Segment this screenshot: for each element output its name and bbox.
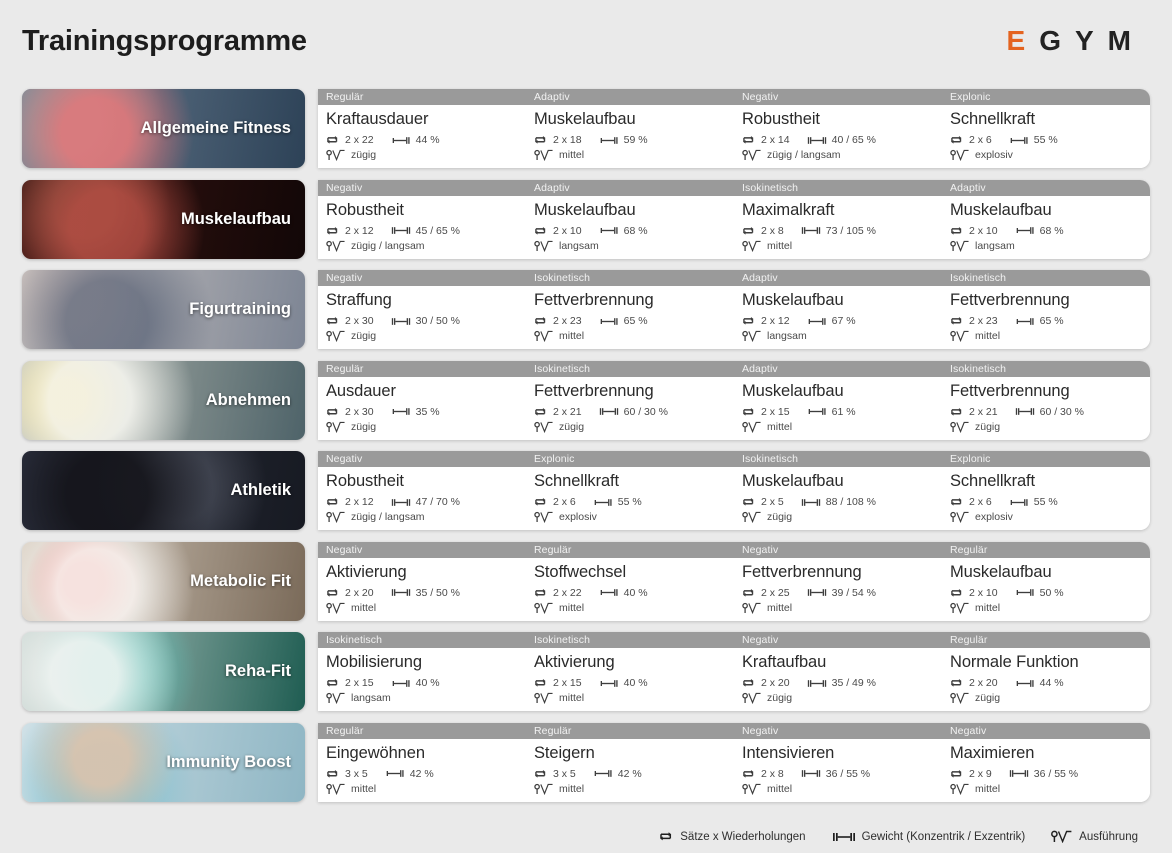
tempo-line: zügig <box>950 420 1150 434</box>
program-cell[interactable]: Muskelaufbau2 x 1267 %langsam <box>734 286 942 349</box>
metrics-line: 2 x 2240 % <box>534 586 734 600</box>
tempo-line: zügig <box>742 691 942 705</box>
repeat-icon <box>326 315 340 327</box>
repeat-icon <box>742 134 756 146</box>
sets-value: 2 x 21 <box>969 406 998 418</box>
repeat-icon <box>534 768 548 780</box>
weight-icon <box>599 316 619 327</box>
tempo-line: zügig <box>534 420 734 434</box>
program-cell[interactable]: Straffung2 x 3030 / 50 %zügig <box>318 286 526 349</box>
program-cell[interactable]: Robustheit2 x 1247 / 70 %zügig / langsam <box>318 467 526 530</box>
card-body: Eingewöhnen3 x 542 %mittelSteigern3 x 54… <box>318 739 1150 802</box>
tempo-icon <box>326 149 346 161</box>
program-cell[interactable]: Robustheit2 x 1440 / 65 %zügig / langsam <box>734 105 942 168</box>
weight-value: 35 / 49 % <box>832 677 876 689</box>
mode-label: Regulär <box>318 723 526 739</box>
card-mode-header: NegativExplonicIsokinetischExplonic <box>318 451 1150 467</box>
metrics-line: 2 x 1540 % <box>534 676 734 690</box>
weight-value: 39 / 54 % <box>832 587 876 599</box>
program-cell[interactable]: Muskelaufbau2 x 1561 %mittel <box>734 377 942 440</box>
repeat-icon <box>950 677 964 689</box>
metrics-line: 2 x 873 / 105 % <box>742 224 942 238</box>
mode-label: Negativ <box>942 723 1150 739</box>
sets-value: 2 x 22 <box>345 134 374 146</box>
program-cell[interactable]: Fettverbrennung2 x 2160 / 30 %zügig <box>942 377 1150 440</box>
repeat-icon <box>326 134 340 146</box>
repeat-icon <box>950 406 964 418</box>
legend-label-tempo: Ausführung <box>1079 831 1138 843</box>
sets-value: 2 x 8 <box>761 225 784 237</box>
tempo-value: explosiv <box>559 511 597 523</box>
program-name: Ausdauer <box>326 381 526 402</box>
weight-value: 68 % <box>1040 225 1064 237</box>
egym-logo: E G Y M <box>1007 25 1132 57</box>
tempo-value: mittel <box>767 421 792 433</box>
sets-value: 2 x 15 <box>345 677 374 689</box>
legend-item-weight: Gewicht (Konzentrik / Exzentrik) <box>832 831 1026 843</box>
tempo-icon <box>326 421 346 433</box>
program-cell[interactable]: Fettverbrennung2 x 2160 / 30 %zügig <box>526 377 734 440</box>
weight-value: 55 % <box>1034 134 1058 146</box>
metrics-line: 2 x 2035 / 49 % <box>742 676 942 690</box>
program-cell[interactable]: Fettverbrennung2 x 2365 %mittel <box>526 286 734 349</box>
category-tile-reha-fit[interactable]: Reha-Fit <box>22 632 305 711</box>
weight-icon <box>593 497 613 508</box>
mode-label: Regulär <box>318 89 526 105</box>
repeat-icon <box>326 677 340 689</box>
tempo-line: zügig <box>950 691 1150 705</box>
repeat-icon <box>326 225 340 237</box>
program-name: Muskelaufbau <box>950 200 1150 221</box>
tempo-value: langsam <box>351 692 391 704</box>
tempo-value: langsam <box>975 240 1015 252</box>
sets-value: 2 x 12 <box>345 225 374 237</box>
card-mode-header: NegativAdaptivIsokinetischAdaptiv <box>318 180 1150 196</box>
category-label: Athletik <box>230 481 305 500</box>
program-cell[interactable]: Muskelaufbau2 x 1050 %mittel <box>942 558 1150 621</box>
program-cell[interactable]: Kraftaufbau2 x 2035 / 49 %zügig <box>734 648 942 711</box>
weight-icon <box>1015 587 1035 598</box>
card-mode-header: RegulärIsokinetischAdaptivIsokinetisch <box>318 361 1150 377</box>
weight-icon <box>1009 497 1029 508</box>
program-cell[interactable]: Robustheit2 x 1245 / 65 %zügig / langsam <box>318 196 526 259</box>
program-name: Stoffwechsel <box>534 562 734 583</box>
program-cell[interactable]: Normale Funktion2 x 2044 %zügig <box>942 648 1150 711</box>
metrics-line: 2 x 3030 / 50 % <box>326 314 526 328</box>
mode-label: Adaptiv <box>526 180 734 196</box>
tempo-icon <box>742 330 762 342</box>
metrics-line: 2 x 1859 % <box>534 133 734 147</box>
weight-value: 40 % <box>624 587 648 599</box>
category-label: Muskelaufbau <box>181 210 305 229</box>
weight-icon <box>807 316 827 327</box>
program-card: NegativAdaptivIsokinetischAdaptivRobusth… <box>318 180 1150 259</box>
program-name: Straffung <box>326 290 526 311</box>
weight-icon <box>832 831 856 843</box>
repeat-icon <box>534 677 548 689</box>
program-cell[interactable]: Stoffwechsel2 x 2240 %mittel <box>526 558 734 621</box>
tempo-icon <box>326 330 346 342</box>
category-tile-allgemeine-fitness[interactable]: Allgemeine Fitness <box>22 89 305 168</box>
program-name: Aktivierung <box>326 562 526 583</box>
program-row: MuskelaufbauNegativAdaptivIsokinetischAd… <box>0 179 1172 270</box>
mode-label: Negativ <box>318 270 526 286</box>
category-label: Figurtraining <box>189 300 305 319</box>
tempo-value: zügig <box>975 421 1000 433</box>
tempo-icon <box>534 149 554 161</box>
repeat-icon <box>742 587 756 599</box>
program-row: AthletikNegativExplonicIsokinetischExplo… <box>0 450 1172 541</box>
weight-icon <box>1015 678 1035 689</box>
weight-icon <box>391 135 411 146</box>
mode-label: Negativ <box>734 632 942 648</box>
card-body: Robustheit2 x 1245 / 65 %zügig / langsam… <box>318 196 1150 259</box>
legend: Sätze x Wiederholungen Gewicht (Konzentr… <box>659 830 1138 843</box>
tempo-line: langsam <box>950 239 1150 253</box>
tempo-value: zügig <box>767 511 792 523</box>
category-tile-muskelaufbau[interactable]: Muskelaufbau <box>22 180 305 259</box>
program-name: Schnellkraft <box>950 109 1150 130</box>
tempo-value: mittel <box>767 240 792 252</box>
tempo-line: mittel <box>326 782 526 796</box>
program-cell[interactable]: Kraftausdauer2 x 2244 %zügig <box>318 105 526 168</box>
program-row: FigurtrainingNegativIsokinetischAdaptivI… <box>0 269 1172 360</box>
repeat-icon <box>659 830 674 843</box>
weight-value: 35 / 50 % <box>416 587 460 599</box>
program-name: Fettverbrennung <box>950 381 1150 402</box>
metrics-line: 2 x 1440 / 65 % <box>742 133 942 147</box>
tempo-value: mittel <box>975 330 1000 342</box>
tempo-line: zügig <box>326 329 526 343</box>
weight-value: 36 / 55 % <box>826 768 870 780</box>
weight-value: 36 / 55 % <box>1034 768 1078 780</box>
repeat-icon <box>950 587 964 599</box>
tempo-value: langsam <box>767 330 807 342</box>
tempo-line: langsam <box>326 691 526 705</box>
program-name: Fettverbrennung <box>742 562 942 583</box>
repeat-icon <box>742 315 756 327</box>
sets-value: 2 x 5 <box>761 496 784 508</box>
program-name: Mobilisierung <box>326 652 526 673</box>
mode-label: Regulär <box>318 361 526 377</box>
program-name: Maximalkraft <box>742 200 942 221</box>
program-cell[interactable]: Muskelaufbau2 x 1068 %langsam <box>942 196 1150 259</box>
legend-label-sets: Sätze x Wiederholungen <box>680 831 805 843</box>
category-label: Abnehmen <box>206 391 305 410</box>
sets-value: 2 x 21 <box>553 406 582 418</box>
tempo-line: mittel <box>950 601 1150 615</box>
program-cell[interactable]: Aktivierung2 x 2035 / 50 %mittel <box>318 558 526 621</box>
sets-value: 2 x 15 <box>761 406 790 418</box>
weight-value: 65 % <box>1040 315 1064 327</box>
program-card: RegulärRegulärNegativNegativEingewöhnen3… <box>318 723 1150 802</box>
tempo-icon <box>1051 830 1073 843</box>
card-mode-header: NegativIsokinetischAdaptivIsokinetisch <box>318 270 1150 286</box>
program-cell[interactable]: Ausdauer2 x 3035 %zügig <box>318 377 526 440</box>
tempo-line: mittel <box>742 601 942 615</box>
weight-value: 40 % <box>416 677 440 689</box>
tempo-icon <box>950 511 970 523</box>
weight-icon <box>807 135 827 146</box>
program-cell[interactable]: Eingewöhnen3 x 542 %mittel <box>318 739 526 802</box>
repeat-icon <box>534 134 548 146</box>
program-cell[interactable]: Schnellkraft2 x 655 %explosiv <box>942 105 1150 168</box>
tempo-icon <box>742 692 762 704</box>
tempo-icon <box>950 330 970 342</box>
program-name: Normale Funktion <box>950 652 1150 673</box>
tempo-line: mittel <box>950 782 1150 796</box>
program-name: Aktivierung <box>534 652 734 673</box>
mode-label: Regulär <box>942 542 1150 558</box>
mode-label: Isokinetisch <box>942 270 1150 286</box>
metrics-line: 2 x 2035 / 50 % <box>326 586 526 600</box>
weight-icon <box>391 678 411 689</box>
weight-value: 40 / 65 % <box>832 134 876 146</box>
repeat-icon <box>534 315 548 327</box>
program-cell[interactable]: Maximieren2 x 936 / 55 %mittel <box>942 739 1150 802</box>
weight-icon <box>807 406 827 417</box>
program-name: Robustheit <box>742 109 942 130</box>
repeat-icon <box>742 768 756 780</box>
weight-icon <box>391 406 411 417</box>
tempo-value: mittel <box>767 602 792 614</box>
tempo-icon <box>742 602 762 614</box>
mode-label: Isokinetisch <box>734 180 942 196</box>
weight-value: 44 % <box>416 134 440 146</box>
program-cell[interactable]: Muskelaufbau2 x 1859 %mittel <box>526 105 734 168</box>
weight-icon <box>801 497 821 508</box>
repeat-icon <box>950 134 964 146</box>
program-cell[interactable]: Fettverbrennung2 x 2539 / 54 %mittel <box>734 558 942 621</box>
tempo-line: mittel <box>534 691 734 705</box>
metrics-line: 2 x 1068 % <box>534 224 734 238</box>
weight-icon <box>599 678 619 689</box>
tempo-icon <box>742 149 762 161</box>
sets-value: 2 x 8 <box>761 768 784 780</box>
repeat-icon <box>326 768 340 780</box>
sets-value: 2 x 25 <box>761 587 790 599</box>
mode-label: Isokinetisch <box>942 361 1150 377</box>
weight-value: 61 % <box>832 406 856 418</box>
tempo-value: mittel <box>351 783 376 795</box>
program-name: Robustheit <box>326 200 526 221</box>
mode-label: Negativ <box>734 89 942 105</box>
training-programs-page: Trainingsprogramme E G Y M Allgemeine Fi… <box>0 0 1172 853</box>
card-body: Mobilisierung2 x 1540 %langsamAktivierun… <box>318 648 1150 711</box>
mode-label: Adaptiv <box>734 361 942 377</box>
tempo-line: zügig <box>326 148 526 162</box>
tempo-line: explosiv <box>534 510 734 524</box>
category-tile-immunity-boost[interactable]: Immunity Boost <box>22 723 305 802</box>
category-tile-athletik[interactable]: Athletik <box>22 451 305 530</box>
repeat-icon <box>950 315 964 327</box>
program-cell[interactable]: Maximalkraft2 x 873 / 105 %mittel <box>734 196 942 259</box>
weight-value: 68 % <box>624 225 648 237</box>
repeat-icon <box>742 496 756 508</box>
program-name: Fettverbrennung <box>950 290 1150 311</box>
program-cell[interactable]: Intensivieren2 x 836 / 55 %mittel <box>734 739 942 802</box>
tempo-value: mittel <box>559 149 584 161</box>
weight-icon <box>391 497 411 508</box>
mode-label: Regulär <box>526 723 734 739</box>
weight-value: 45 / 65 % <box>416 225 460 237</box>
program-cell[interactable]: Muskelaufbau2 x 1068 %langsam <box>526 196 734 259</box>
program-row: Allgemeine FitnessRegulärAdaptivNegativE… <box>0 88 1172 179</box>
program-name: Schnellkraft <box>950 471 1150 492</box>
sets-value: 2 x 20 <box>969 677 998 689</box>
program-row: AbnehmenRegulärIsokinetischAdaptivIsokin… <box>0 360 1172 451</box>
program-cell[interactable]: Schnellkraft2 x 655 %explosiv <box>942 467 1150 530</box>
weight-value: 88 / 108 % <box>826 496 876 508</box>
repeat-icon <box>326 587 340 599</box>
mode-label: Negativ <box>318 451 526 467</box>
metrics-line: 2 x 936 / 55 % <box>950 767 1150 781</box>
program-card: NegativIsokinetischAdaptivIsokinetischSt… <box>318 270 1150 349</box>
tempo-icon <box>534 602 554 614</box>
tempo-line: explosiv <box>950 148 1150 162</box>
tempo-value: mittel <box>351 602 376 614</box>
weight-icon <box>593 768 613 779</box>
card-body: Aktivierung2 x 2035 / 50 %mittelStoffwec… <box>318 558 1150 621</box>
tempo-value: mittel <box>559 783 584 795</box>
sets-value: 2 x 12 <box>761 315 790 327</box>
tempo-icon <box>534 240 554 252</box>
sets-value: 2 x 23 <box>969 315 998 327</box>
card-mode-header: IsokinetischIsokinetischNegativRegulär <box>318 632 1150 648</box>
tempo-icon <box>950 602 970 614</box>
category-label: Metabolic Fit <box>190 572 305 591</box>
tempo-value: langsam <box>559 240 599 252</box>
weight-icon <box>1009 135 1029 146</box>
card-mode-header: RegulärRegulärNegativNegativ <box>318 723 1150 739</box>
category-tile-metabolic-fit[interactable]: Metabolic Fit <box>22 542 305 621</box>
tempo-icon <box>950 149 970 161</box>
program-name: Robustheit <box>326 471 526 492</box>
metrics-line: 2 x 2044 % <box>950 676 1150 690</box>
sets-value: 2 x 10 <box>553 225 582 237</box>
weight-value: 42 % <box>410 768 434 780</box>
sets-value: 2 x 22 <box>553 587 582 599</box>
program-name: Kraftausdauer <box>326 109 526 130</box>
weight-value: 42 % <box>618 768 642 780</box>
sets-value: 2 x 20 <box>761 677 790 689</box>
category-label: Allgemeine Fitness <box>141 119 305 138</box>
sets-value: 2 x 23 <box>553 315 582 327</box>
sets-value: 2 x 30 <box>345 315 374 327</box>
mode-label: Regulär <box>526 542 734 558</box>
repeat-icon <box>950 496 964 508</box>
repeat-icon <box>950 225 964 237</box>
sets-value: 2 x 14 <box>761 134 790 146</box>
category-label: Immunity Boost <box>166 753 305 772</box>
program-name: Muskelaufbau <box>742 471 942 492</box>
program-cell[interactable]: Steigern3 x 542 %mittel <box>526 739 734 802</box>
repeat-icon <box>326 496 340 508</box>
repeat-icon <box>534 496 548 508</box>
category-tile-figurtraining[interactable]: Figurtraining <box>22 270 305 349</box>
card-body: Robustheit2 x 1247 / 70 %zügig / langsam… <box>318 467 1150 530</box>
weight-value: 73 / 105 % <box>826 225 876 237</box>
tempo-value: zügig <box>975 692 1000 704</box>
metrics-line: 2 x 3035 % <box>326 405 526 419</box>
program-name: Steigern <box>534 743 734 764</box>
program-cell[interactable]: Schnellkraft2 x 655 %explosiv <box>526 467 734 530</box>
weight-value: 50 % <box>1040 587 1064 599</box>
tempo-line: mittel <box>534 148 734 162</box>
tempo-value: explosiv <box>975 511 1013 523</box>
metrics-line: 2 x 1267 % <box>742 314 942 328</box>
program-name: Schnellkraft <box>534 471 734 492</box>
logo-letter-e: E <box>1007 25 1027 57</box>
tempo-line: mittel <box>534 601 734 615</box>
metrics-line: 2 x 1050 % <box>950 586 1150 600</box>
tempo-icon <box>534 511 554 523</box>
tempo-icon <box>950 692 970 704</box>
program-cell[interactable]: Muskelaufbau2 x 588 / 108 %zügig <box>734 467 942 530</box>
tempo-value: zügig <box>559 421 584 433</box>
program-cell[interactable]: Mobilisierung2 x 1540 %langsam <box>318 648 526 711</box>
tempo-line: mittel <box>742 239 942 253</box>
metrics-line: 2 x 2160 / 30 % <box>534 405 734 419</box>
sets-value: 2 x 10 <box>969 225 998 237</box>
logo-letter-y: Y <box>1075 25 1095 57</box>
tempo-icon <box>742 783 762 795</box>
mode-label: Adaptiv <box>734 270 942 286</box>
weight-value: 59 % <box>624 134 648 146</box>
sets-value: 2 x 30 <box>345 406 374 418</box>
mode-label: Adaptiv <box>526 89 734 105</box>
repeat-icon <box>742 406 756 418</box>
tempo-line: zügig / langsam <box>326 239 526 253</box>
weight-icon <box>385 768 405 779</box>
repeat-icon <box>326 406 340 418</box>
weight-value: 35 % <box>416 406 440 418</box>
tempo-line: mittel <box>950 329 1150 343</box>
sets-value: 2 x 6 <box>553 496 576 508</box>
metrics-line: 2 x 836 / 55 % <box>742 767 942 781</box>
tempo-value: zügig <box>351 421 376 433</box>
weight-value: 40 % <box>624 677 648 689</box>
tempo-icon <box>742 240 762 252</box>
weight-icon <box>391 225 411 236</box>
program-card: RegulärIsokinetischAdaptivIsokinetischAu… <box>318 361 1150 440</box>
tempo-line: zügig <box>326 420 526 434</box>
program-cell[interactable]: Aktivierung2 x 1540 %mittel <box>526 648 734 711</box>
card-mode-header: RegulärAdaptivNegativExplonic <box>318 89 1150 105</box>
tempo-value: mittel <box>559 692 584 704</box>
tempo-value: mittel <box>975 602 1000 614</box>
category-tile-abnehmen[interactable]: Abnehmen <box>22 361 305 440</box>
tempo-line: langsam <box>534 239 734 253</box>
sets-value: 3 x 5 <box>345 768 368 780</box>
weight-value: 67 % <box>832 315 856 327</box>
metrics-line: 3 x 542 % <box>534 767 734 781</box>
tempo-line: explosiv <box>950 510 1150 524</box>
program-cell[interactable]: Fettverbrennung2 x 2365 %mittel <box>942 286 1150 349</box>
program-rows: Allgemeine FitnessRegulärAdaptivNegativE… <box>0 88 1172 812</box>
mode-label: Adaptiv <box>942 180 1150 196</box>
weight-value: 44 % <box>1040 677 1064 689</box>
repeat-icon <box>950 768 964 780</box>
mode-label: Negativ <box>318 180 526 196</box>
sets-value: 2 x 12 <box>345 496 374 508</box>
tempo-line: mittel <box>742 420 942 434</box>
weight-value: 47 / 70 % <box>416 496 460 508</box>
program-card: RegulärAdaptivNegativExplonicKraftausdau… <box>318 89 1150 168</box>
weight-icon <box>599 225 619 236</box>
repeat-icon <box>534 225 548 237</box>
card-mode-header: NegativRegulärNegativRegulär <box>318 542 1150 558</box>
